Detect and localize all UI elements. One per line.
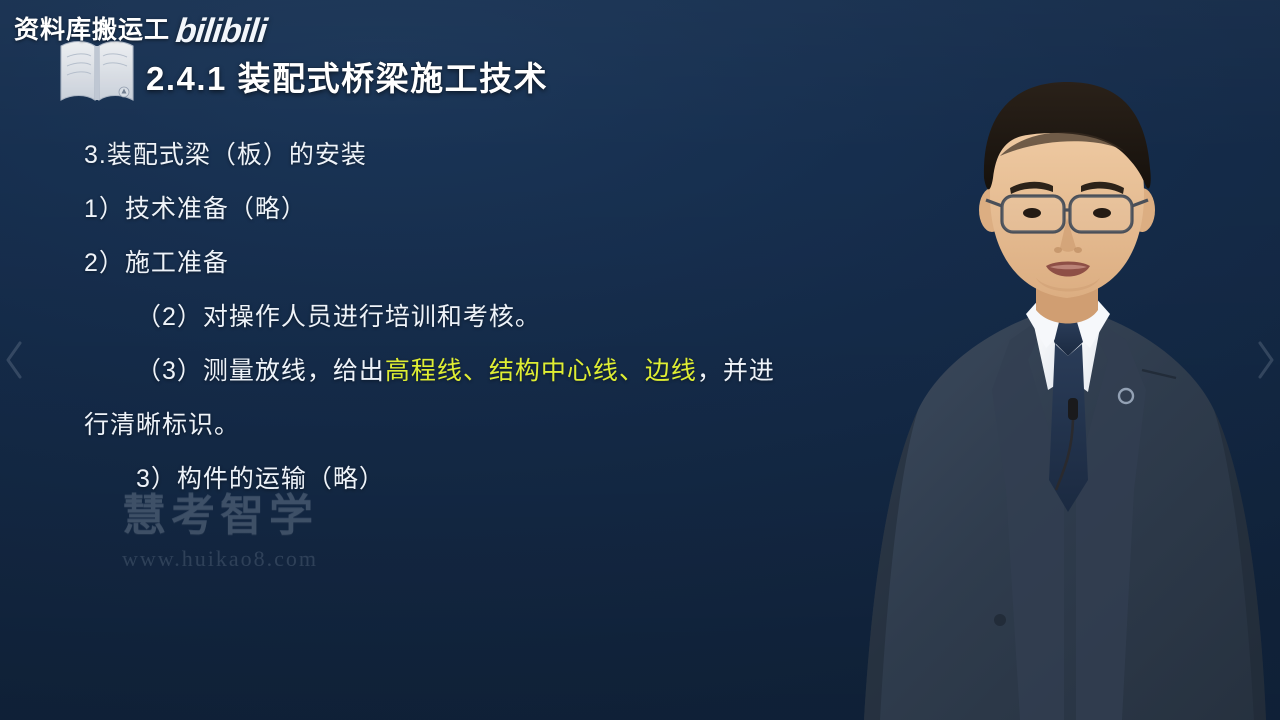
slide-body-line: （3）测量放线，给出高程线、结构中心线、边线，并进 bbox=[84, 344, 884, 398]
body-text: 3）构件的运输（略） bbox=[136, 465, 385, 493]
slide-body: 3.装配式梁（板）的安装1）技术准备（略）2）施工准备（2）对操作人员进行培训和… bbox=[84, 128, 884, 506]
next-video-icon[interactable] bbox=[1252, 339, 1278, 381]
body-text: 1）技术准备（略） bbox=[84, 195, 307, 223]
body-text: （3）测量放线，给出 bbox=[136, 357, 385, 385]
body-text: （2）对操作人员进行培训和考核。 bbox=[136, 303, 541, 331]
body-text: 3.装配式梁（板）的安装 bbox=[84, 141, 367, 169]
slide-body-line: 3.装配式梁（板）的安装 bbox=[84, 128, 884, 182]
slide-body-line: 2）施工准备 bbox=[84, 236, 884, 290]
body-text: 2）施工准备 bbox=[84, 249, 229, 277]
slide-body-line: 3）构件的运输（略） bbox=[84, 452, 884, 506]
slide-title: 2.4.1 装配式桥梁施工技术 bbox=[146, 52, 548, 100]
slide-body-line: （2）对操作人员进行培训和考核。 bbox=[84, 290, 884, 344]
video-player-frame: 资料库搬运工 bilibili 2.4.1 装配式桥梁施工技术 3.装配式梁（板… bbox=[0, 0, 1280, 720]
body-text: ，并进 bbox=[697, 357, 775, 385]
previous-video-icon[interactable] bbox=[2, 339, 28, 381]
slide-body-line: 行清晰标识。 bbox=[84, 398, 884, 452]
body-text: 行清晰标识。 bbox=[84, 411, 240, 439]
slide-body-line: 1）技术准备（略） bbox=[84, 182, 884, 236]
highlighted-text: 高程线、结构中心线、边线 bbox=[385, 357, 697, 385]
